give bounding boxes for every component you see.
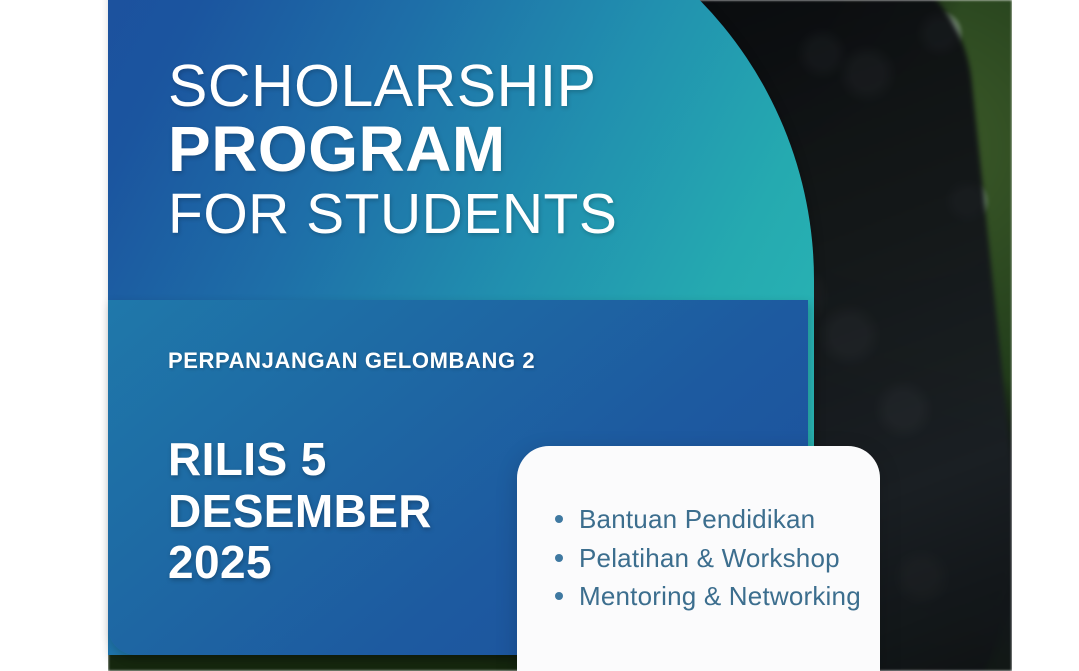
release-date-line-1: RILIS 5	[168, 434, 498, 486]
left-white-margin	[0, 0, 108, 671]
bullet-dot-icon	[555, 592, 563, 600]
bullet-dot-icon	[555, 554, 563, 562]
benefits-card: Bantuan Pendidikan Pelatihan & Workshop …	[517, 446, 880, 671]
list-item: Bantuan Pendidikan	[579, 502, 880, 537]
benefit-label: Pelatihan & Workshop	[579, 543, 840, 573]
benefit-label: Mentoring & Networking	[579, 581, 861, 611]
headline-line-for-students: FOR STUDENTS	[168, 186, 728, 243]
benefits-list: Bantuan Pendidikan Pelatihan & Workshop …	[517, 446, 880, 614]
release-date-line-2: DESEMBER	[168, 486, 498, 538]
benefit-label: Bantuan Pendidikan	[579, 504, 815, 534]
list-item: Mentoring & Networking	[579, 579, 880, 614]
release-date-line-3: 2025	[168, 537, 498, 589]
poster-canvas: SCHOLARSHIP PROGRAM FOR STUDENTS PERPANJ…	[0, 0, 1079, 671]
right-white-margin	[1012, 0, 1079, 671]
headline-block: SCHOLARSHIP PROGRAM FOR STUDENTS	[168, 58, 728, 243]
headline-line-scholarship: SCHOLARSHIP	[168, 58, 728, 115]
headline-line-program: PROGRAM	[168, 117, 728, 182]
release-date-block: RILIS 5 DESEMBER 2025	[168, 434, 498, 589]
list-item: Pelatihan & Workshop	[579, 541, 880, 576]
kicker-text: PERPANJANGAN GELOMBANG 2	[168, 348, 535, 374]
bullet-dot-icon	[555, 515, 563, 523]
